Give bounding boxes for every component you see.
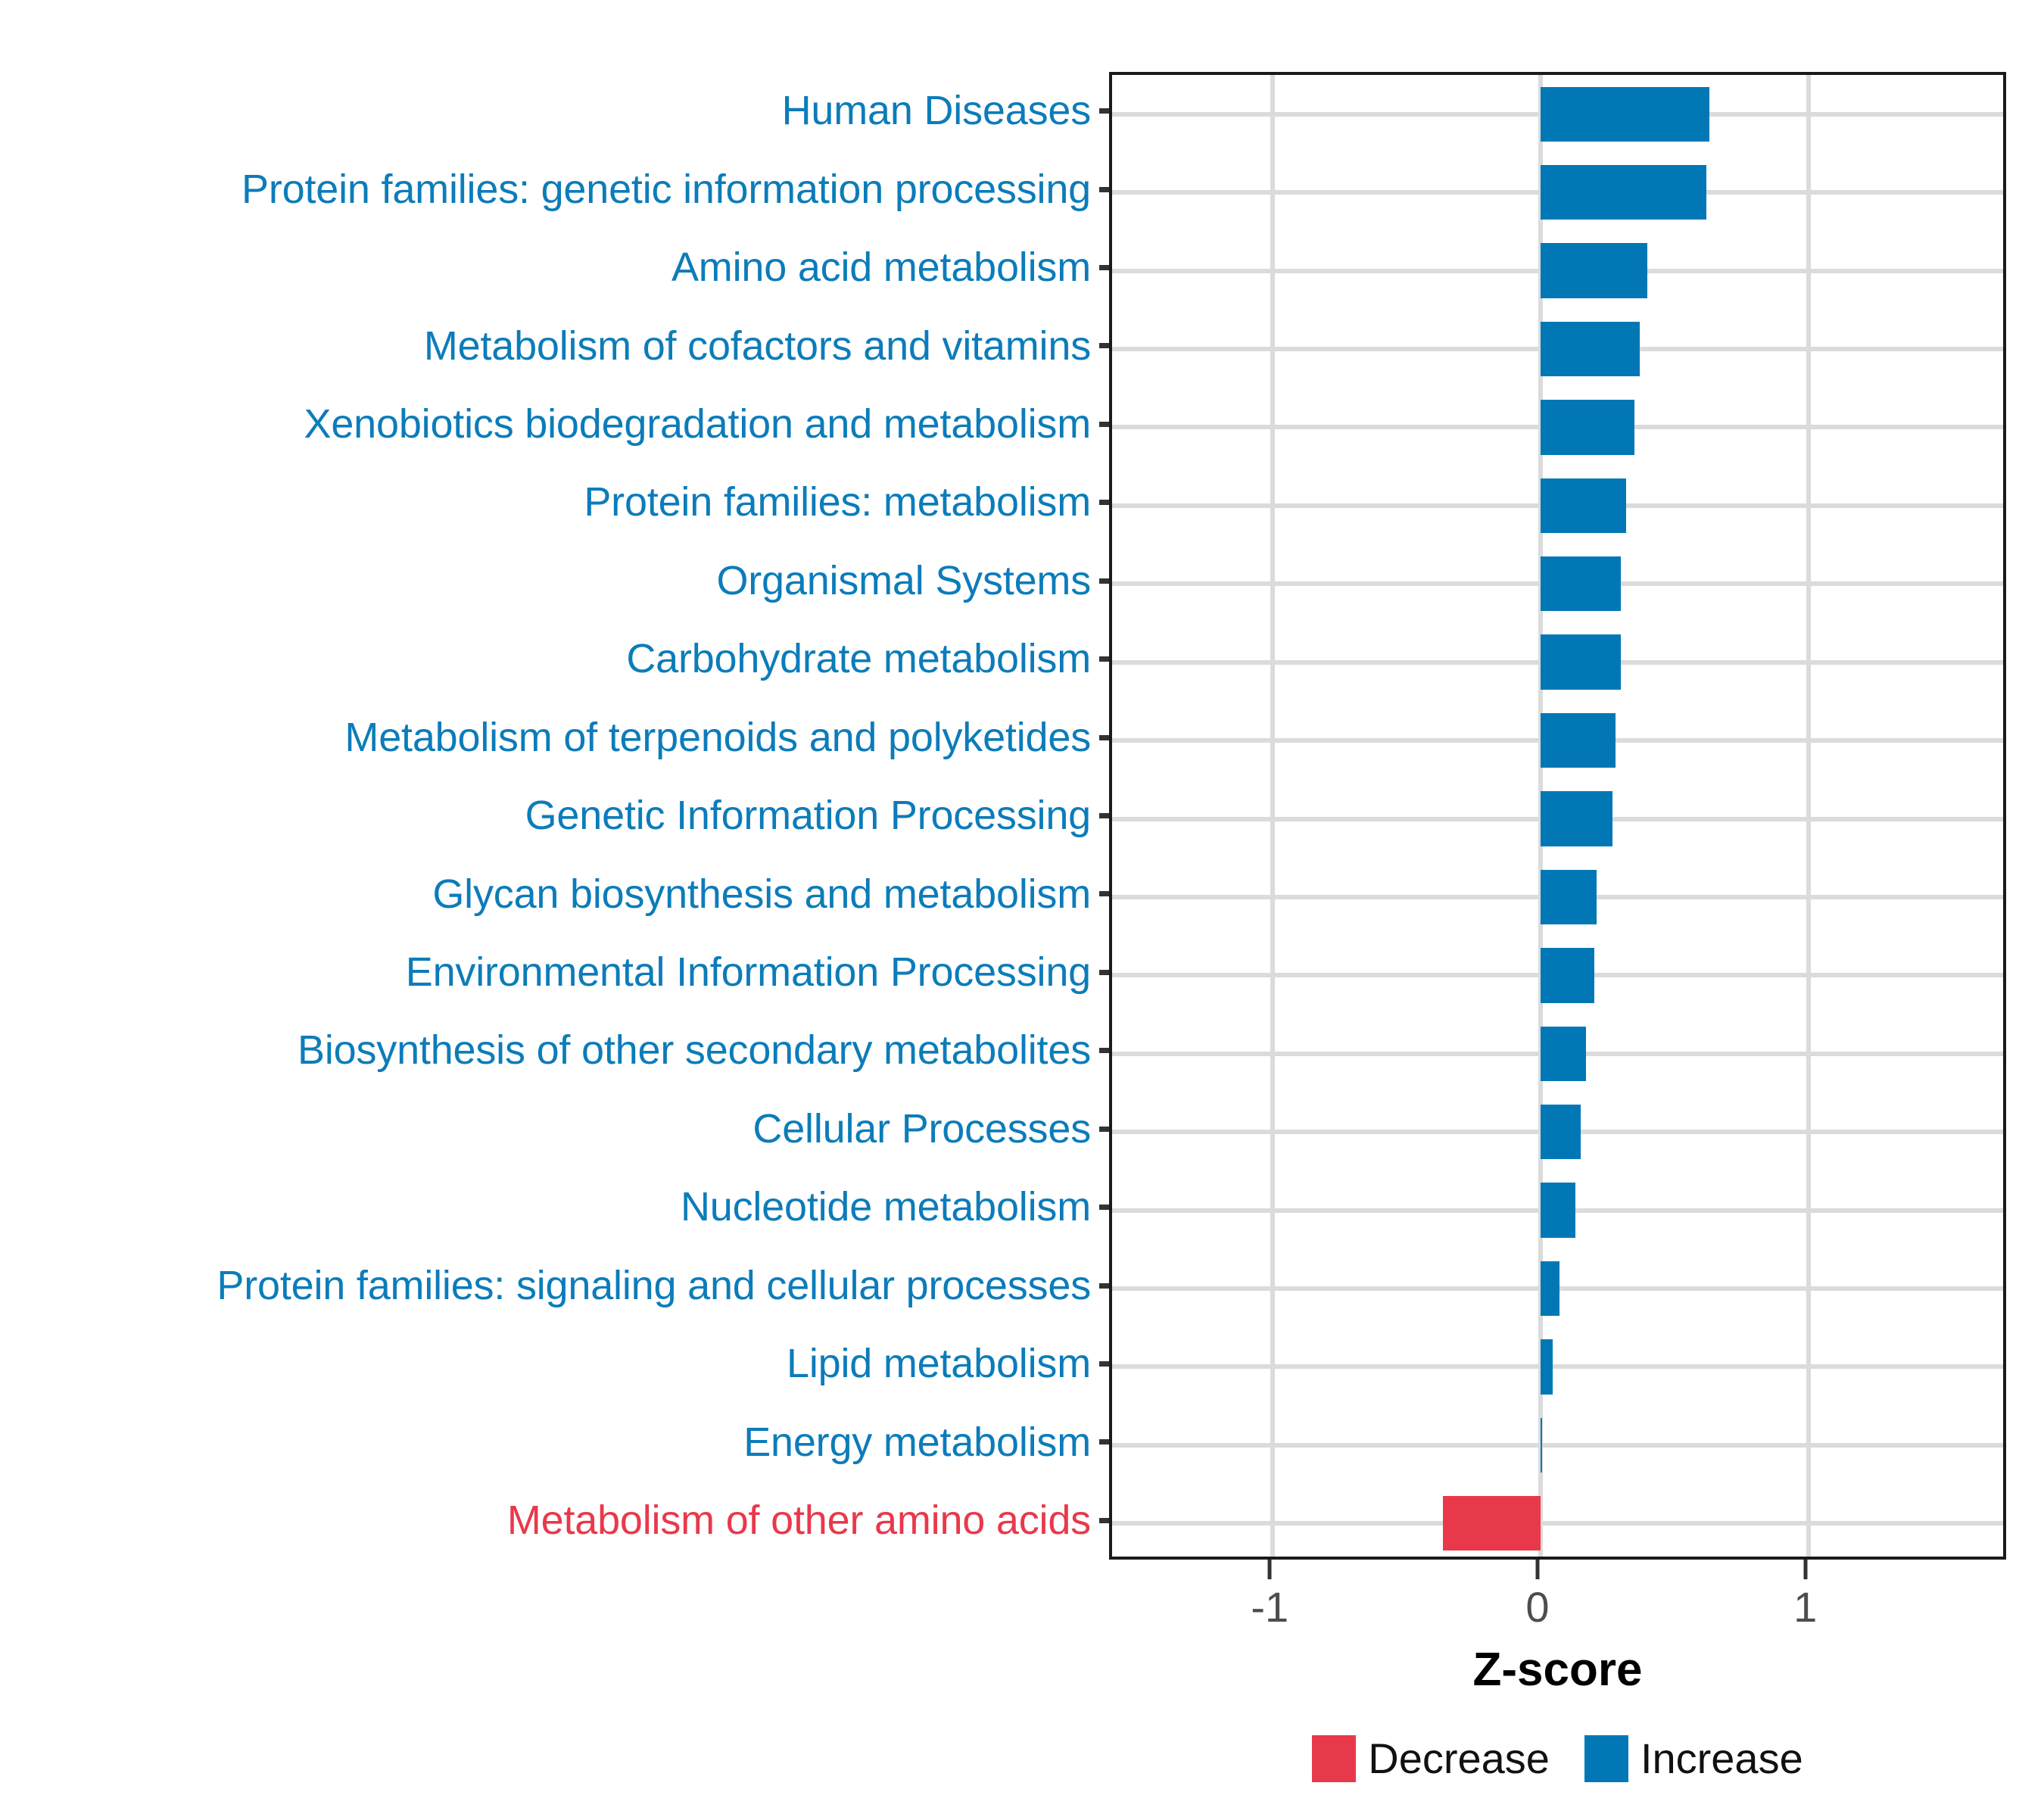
bar[interactable] (1541, 948, 1594, 1002)
y-tick-mark (1099, 343, 1110, 348)
bar-row (1112, 1183, 2003, 1237)
y-axis-label-row: Amino acid metabolism (0, 229, 1108, 307)
y-axis-label-row: Nucleotide metabolism (0, 1168, 1108, 1246)
y-axis-tick (1099, 72, 1110, 150)
bar[interactable] (1541, 1418, 1542, 1473)
y-tick-mark (1099, 813, 1110, 818)
legend-item[interactable]: Increase (1584, 1734, 1803, 1783)
bar[interactable] (1541, 165, 1706, 220)
bar[interactable] (1443, 1496, 1541, 1551)
bar-row (1112, 556, 2003, 611)
y-tick-mark (1099, 1361, 1110, 1367)
y-axis-label-row: Energy metabolism (0, 1403, 1108, 1481)
y-axis-category-label: Energy metabolism (743, 1421, 1091, 1464)
y-axis-label-row: Protein families: metabolism (0, 463, 1108, 541)
y-tick-mark (1099, 735, 1110, 740)
y-axis-tick (1099, 229, 1110, 307)
y-axis-tick (1099, 1325, 1110, 1403)
y-tick-mark (1099, 500, 1110, 505)
y-axis-label-row: Cellular Processes (0, 1089, 1108, 1167)
bar[interactable] (1541, 243, 1647, 298)
x-tick-label: 1 (1793, 1582, 1817, 1632)
x-tick-mark (1268, 1560, 1272, 1579)
y-axis-category-label: Xenobiotics biodegradation and metabolis… (304, 403, 1091, 446)
y-axis-category-label: Genetic Information Processing (525, 794, 1091, 837)
y-axis-tick (1099, 1403, 1110, 1481)
y-axis-category-label: Glycan biosynthesis and metabolism (432, 873, 1091, 916)
bar[interactable] (1541, 1261, 1559, 1316)
y-axis-label-row: Metabolism of terpenoids and polyketides (0, 698, 1108, 776)
y-axis-label-row: Organismal Systems (0, 542, 1108, 620)
y-tick-mark (1099, 656, 1110, 662)
bar[interactable] (1541, 1183, 1575, 1237)
bar[interactable] (1541, 1105, 1581, 1159)
y-axis-category-label: Carbohydrate metabolism (626, 637, 1091, 681)
bar[interactable] (1541, 478, 1626, 533)
y-axis-label-row: Carbohydrate metabolism (0, 620, 1108, 698)
y-tick-mark (1099, 187, 1110, 192)
bar-row (1112, 634, 2003, 689)
y-axis-category-label: Metabolism of other amino acids (507, 1499, 1091, 1542)
y-axis-label-row: Protein families: genetic information pr… (0, 150, 1108, 228)
bar-row (1112, 1418, 2003, 1473)
y-axis-tick (1099, 1011, 1110, 1089)
bar[interactable] (1541, 87, 1709, 142)
bar-row (1112, 870, 2003, 924)
y-axis-category-label: Amino acid metabolism (671, 246, 1091, 289)
y-axis-tick (1099, 307, 1110, 385)
y-axis-tick (1099, 542, 1110, 620)
y-axis-tick (1099, 385, 1110, 463)
bar-row (1112, 1027, 2003, 1081)
bar[interactable] (1541, 1339, 1553, 1394)
legend-label: Decrease (1368, 1734, 1550, 1783)
y-tick-mark (1099, 1127, 1110, 1132)
y-axis-label-row: Genetic Information Processing (0, 777, 1108, 855)
y-axis-tick (1099, 1482, 1110, 1560)
y-tick-mark (1099, 578, 1110, 584)
bar[interactable] (1541, 556, 1621, 611)
bar-row (1112, 791, 2003, 846)
bar[interactable] (1541, 1027, 1586, 1081)
y-tick-mark (1099, 1439, 1110, 1445)
bar-row (1112, 165, 2003, 220)
y-axis-category-label: Metabolism of terpenoids and polyketides (344, 716, 1091, 759)
legend-item[interactable]: Decrease (1312, 1734, 1550, 1783)
y-tick-mark (1099, 970, 1110, 975)
y-axis-category-label: Protein families: genetic information pr… (241, 168, 1091, 211)
y-tick-mark (1099, 1205, 1110, 1210)
y-axis-tick (1099, 933, 1110, 1011)
y-axis-tick (1099, 463, 1110, 541)
y-axis-tick (1099, 855, 1110, 933)
legend: DecreaseIncrease (1109, 1734, 2006, 1783)
y-axis-label-row: Metabolism of cofactors and vitamins (0, 307, 1108, 385)
bar-row (1112, 478, 2003, 533)
y-tick-mark (1099, 108, 1110, 114)
y-axis-tick (1099, 1168, 1110, 1246)
y-axis-tick (1099, 150, 1110, 228)
y-axis-category-label: Nucleotide metabolism (681, 1186, 1091, 1229)
x-tick-label: -1 (1251, 1582, 1288, 1632)
y-axis-category-label: Organismal Systems (716, 559, 1091, 603)
y-axis-label-row: Metabolism of other amino acids (0, 1482, 1108, 1560)
bar[interactable] (1541, 322, 1640, 376)
bar[interactable] (1541, 791, 1613, 846)
bar-row (1112, 400, 2003, 454)
bar-row (1112, 948, 2003, 1002)
x-tick-mark (1803, 1560, 1807, 1579)
bar[interactable] (1541, 870, 1597, 924)
y-axis-category-label: Protein families: signaling and cellular… (217, 1264, 1091, 1307)
bar-row (1112, 322, 2003, 376)
bar[interactable] (1541, 713, 1616, 768)
y-axis-category-labels: Human DiseasesProtein families: genetic … (0, 72, 1108, 1560)
bar-row (1112, 87, 2003, 142)
bar-row (1112, 713, 2003, 768)
y-tick-mark (1099, 265, 1110, 270)
y-axis-category-label: Human Diseases (782, 89, 1091, 132)
bar-row (1112, 1339, 2003, 1394)
plot-panel (1109, 72, 2006, 1560)
y-axis-label-row: Xenobiotics biodegradation and metabolis… (0, 385, 1108, 463)
y-axis-label-row: Biosynthesis of other secondary metaboli… (0, 1011, 1108, 1089)
y-axis-label-row: Glycan biosynthesis and metabolism (0, 855, 1108, 933)
y-axis-label-row: Lipid metabolism (0, 1325, 1108, 1403)
y-tick-mark (1099, 1283, 1110, 1289)
kegg-zscore-bar-chart: Human DiseasesProtein families: genetic … (0, 0, 2044, 1817)
y-axis-tick (1099, 620, 1110, 698)
x-tick-label: 0 (1525, 1582, 1549, 1632)
y-tick-mark (1099, 422, 1110, 427)
y-axis-tick (1099, 1246, 1110, 1324)
y-axis-tick (1099, 1089, 1110, 1167)
legend-swatch-icon (1584, 1735, 1628, 1782)
y-axis-category-label: Protein families: metabolism (584, 481, 1091, 524)
legend-label: Increase (1640, 1734, 1803, 1783)
legend-swatch-icon (1312, 1735, 1356, 1782)
y-axis-tick (1099, 698, 1110, 776)
y-axis-label-row: Environmental Information Processing (0, 933, 1108, 1011)
bar-row (1112, 1496, 2003, 1551)
bars-layer (1112, 75, 2003, 1557)
y-axis-category-label: Cellular Processes (752, 1108, 1091, 1151)
y-axis-category-label: Metabolism of cofactors and vitamins (424, 325, 1091, 368)
x-tick-mark (1535, 1560, 1539, 1579)
y-axis-category-label: Biosynthesis of other secondary metaboli… (298, 1029, 1091, 1072)
y-tick-mark (1099, 891, 1110, 896)
bar-row (1112, 1105, 2003, 1159)
y-axis-tick (1099, 777, 1110, 855)
y-tick-mark (1099, 1048, 1110, 1053)
bar-row (1112, 1261, 2003, 1316)
y-axis-category-label: Environmental Information Processing (406, 951, 1091, 994)
y-tick-mark (1099, 1518, 1110, 1523)
x-axis-title: Z-score (1109, 1643, 2006, 1697)
y-axis-tick-marks (1099, 72, 1110, 1560)
y-axis-label-row: Human Diseases (0, 72, 1108, 150)
y-axis-label-row: Protein families: signaling and cellular… (0, 1246, 1108, 1324)
bar-row (1112, 243, 2003, 298)
bar[interactable] (1541, 400, 1634, 454)
bar[interactable] (1541, 634, 1621, 689)
y-axis-category-label: Lipid metabolism (787, 1342, 1091, 1385)
